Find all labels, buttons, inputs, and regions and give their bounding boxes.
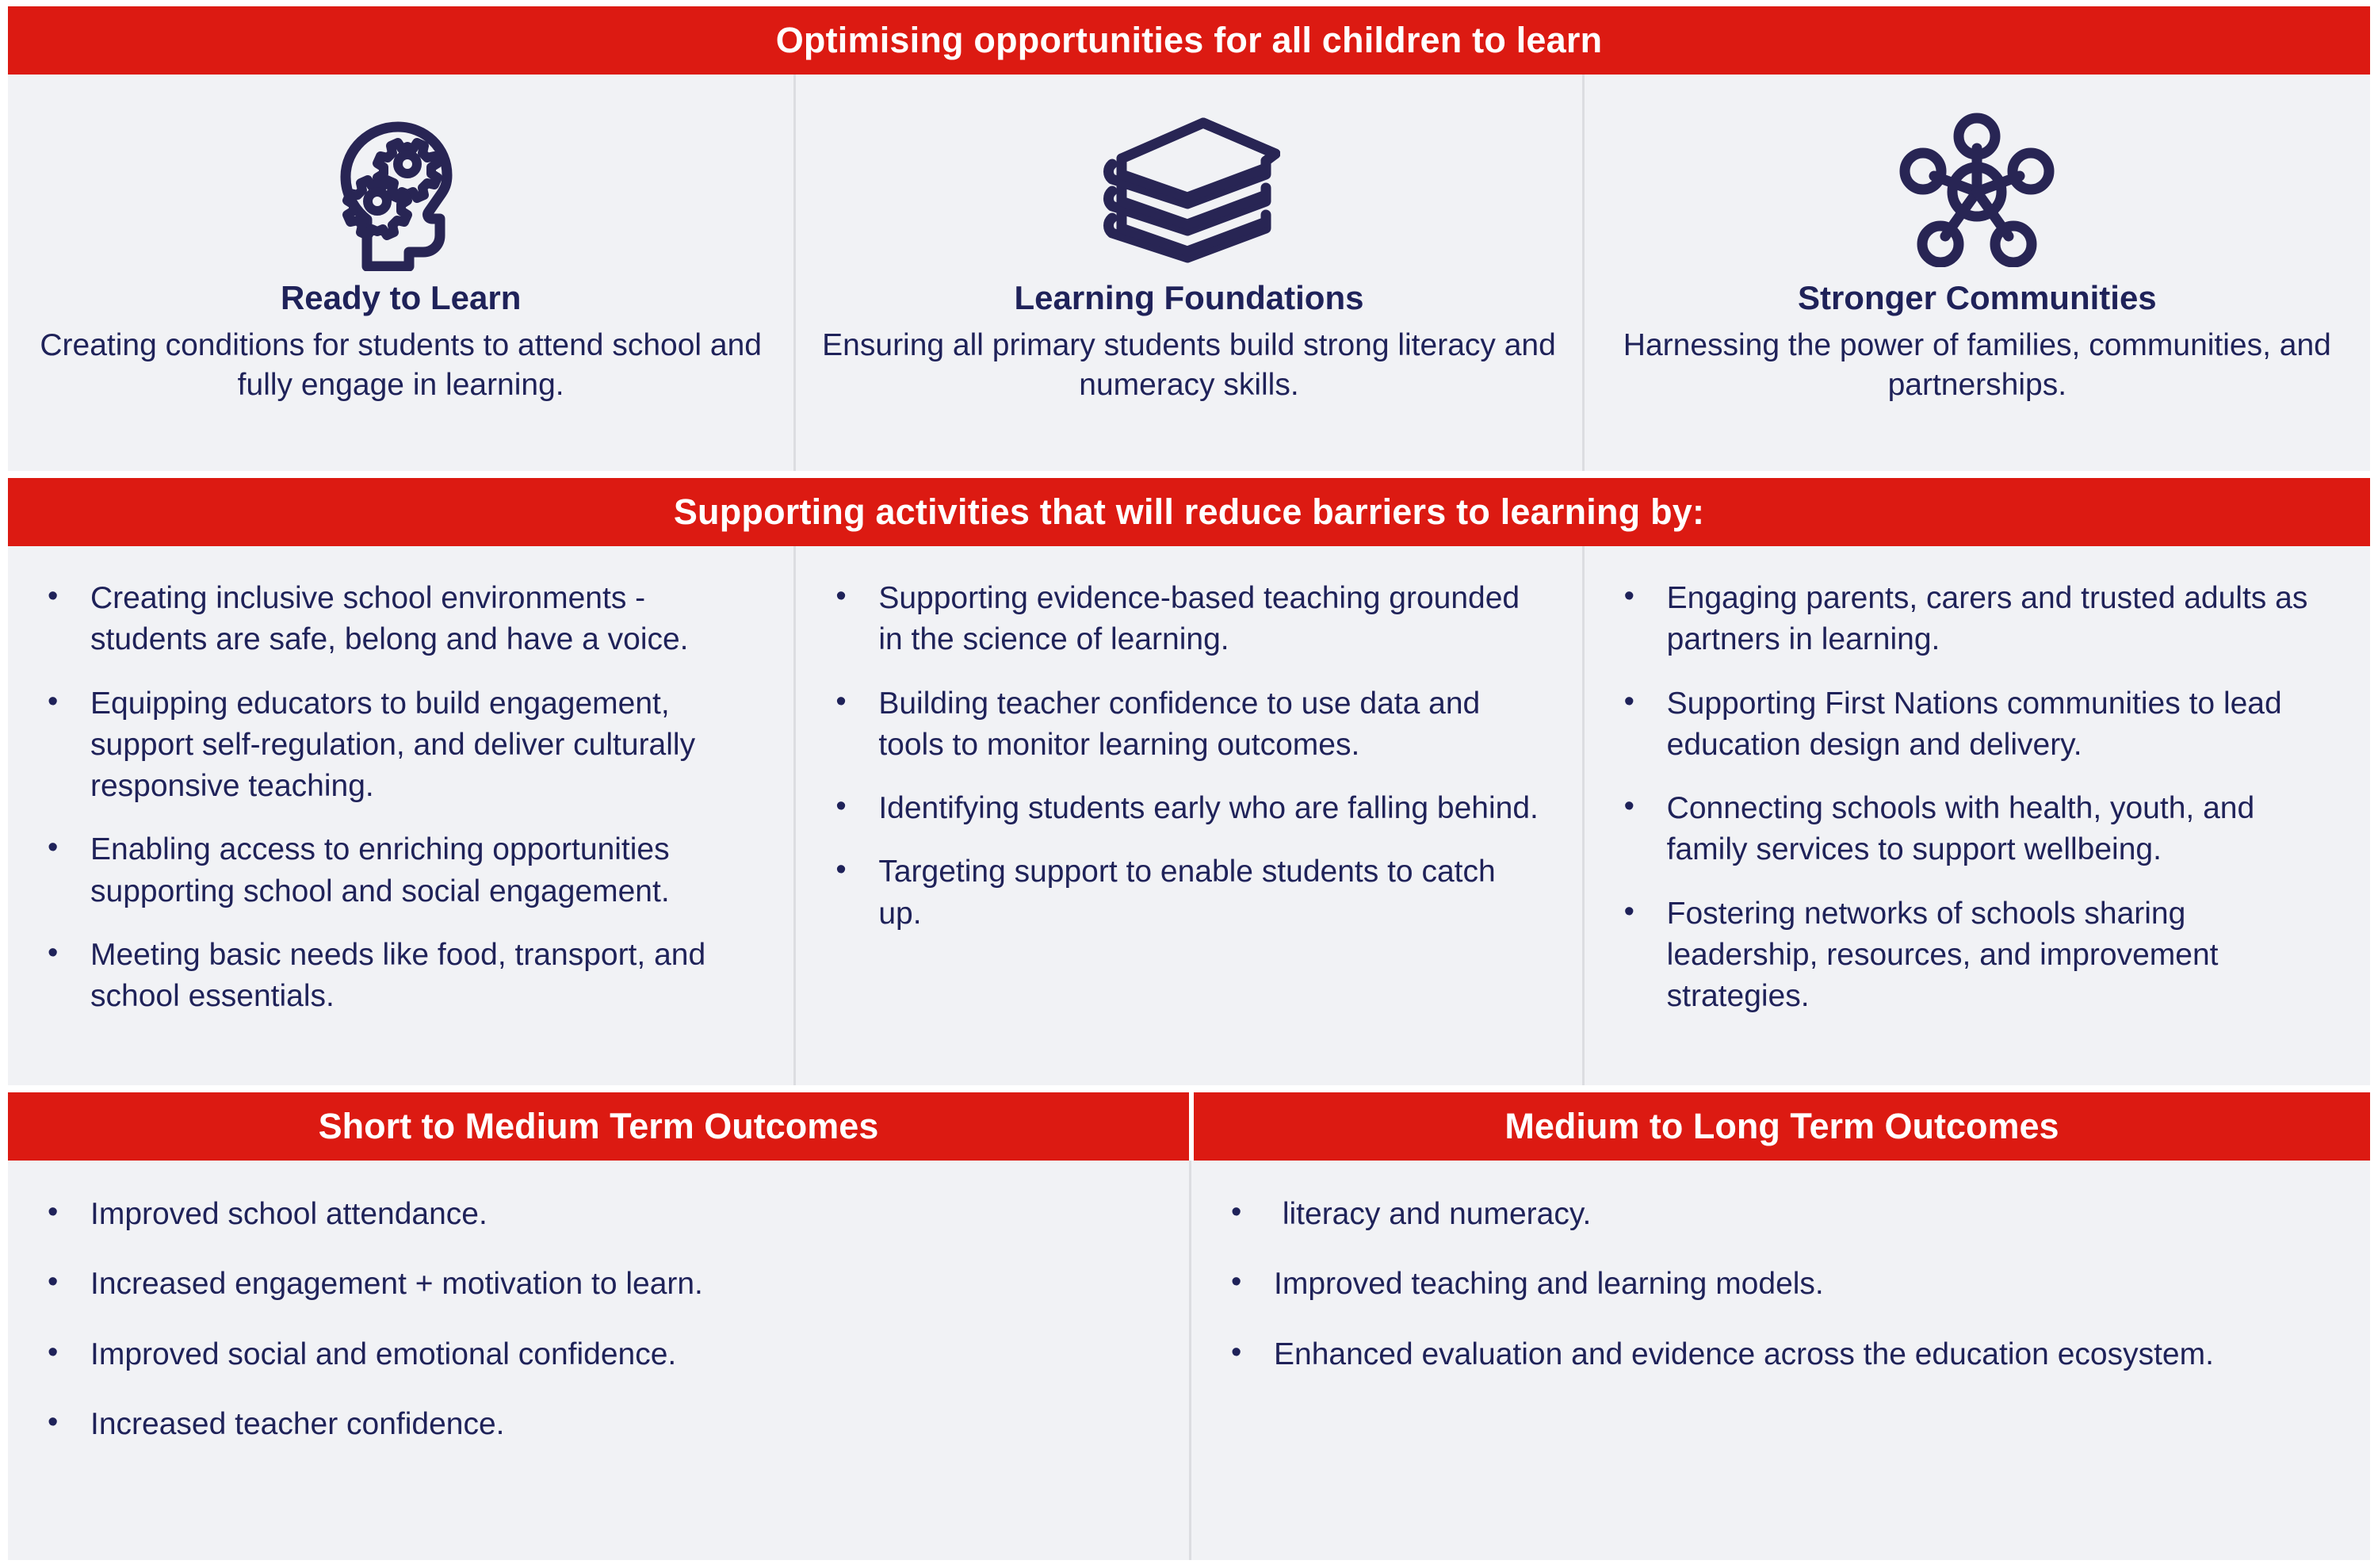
activities-column-learning-foundations: Supporting evidence-based teaching groun… bbox=[793, 546, 1581, 1085]
medium-long-term-outcomes-column: literacy and numeracy. Improved teaching… bbox=[1189, 1161, 2370, 1560]
list-item: Enhanced evaluation and evidence across … bbox=[1220, 1334, 2338, 1375]
list-item: Targeting support to enable students to … bbox=[824, 851, 1546, 935]
head-with-gears-icon bbox=[322, 105, 480, 275]
activities-banner: Supporting activities that will reduce b… bbox=[8, 478, 2370, 546]
outcomes-list: literacy and numeracy. Improved teaching… bbox=[1220, 1194, 2338, 1375]
medium-long-term-outcomes-header: Medium to Long Term Outcomes bbox=[1194, 1092, 2370, 1161]
activities-list: Engaging parents, carers and trusted adu… bbox=[1613, 578, 2335, 1017]
pillar-title: Stronger Communities bbox=[1798, 278, 2157, 318]
list-item: Engaging parents, carers and trusted adu… bbox=[1613, 578, 2335, 661]
list-item: Supporting evidence-based teaching groun… bbox=[824, 578, 1546, 661]
list-item: Enabling access to enriching opportuniti… bbox=[36, 829, 759, 912]
list-item: Increased teacher confidence. bbox=[36, 1404, 1157, 1445]
short-medium-term-outcomes-column: Improved school attendance. Increased en… bbox=[8, 1161, 1189, 1560]
activities-list: Supporting evidence-based teaching groun… bbox=[824, 578, 1546, 935]
pillar-title: Learning Foundations bbox=[1015, 278, 1364, 318]
list-item: literacy and numeracy. bbox=[1220, 1194, 2338, 1235]
short-medium-term-outcomes-header: Short to Medium Term Outcomes bbox=[8, 1092, 1189, 1161]
activities-banner-title: Supporting activities that will reduce b… bbox=[674, 491, 1704, 533]
outcomes-body-row: Improved school attendance. Increased en… bbox=[8, 1161, 2370, 1560]
activities-column-ready-to-learn: Creating inclusive school environments -… bbox=[8, 546, 793, 1085]
pillar-learning-foundations: Learning Foundations Ensuring all primar… bbox=[793, 75, 1581, 471]
pillar-description: Harnessing the power of families, commun… bbox=[1608, 326, 2346, 406]
list-item: Increased engagement + motivation to lea… bbox=[36, 1264, 1157, 1305]
list-item: Improved social and emotional confidence… bbox=[36, 1334, 1157, 1375]
activities-row: Creating inclusive school environments -… bbox=[8, 546, 2370, 1085]
pillars-row: Ready to Learn Creating conditions for s… bbox=[8, 75, 2370, 471]
infographic-page: Optimising opportunities for all childre… bbox=[0, 0, 2378, 1568]
top-banner: Optimising opportunities for all childre… bbox=[8, 6, 2370, 75]
outcome-header-label: Medium to Long Term Outcomes bbox=[1504, 1106, 2059, 1147]
list-item: Connecting schools with health, youth, a… bbox=[1613, 788, 2335, 871]
list-item: Improved school attendance. bbox=[36, 1194, 1157, 1235]
network-hub-icon bbox=[1896, 105, 2059, 275]
pillar-stronger-communities: Stronger Communities Harnessing the powe… bbox=[1582, 75, 2370, 471]
pillar-description: Ensuring all primary students build stro… bbox=[820, 326, 1558, 406]
list-item: Identifying students early who are falli… bbox=[824, 788, 1546, 829]
outcomes-list: Improved school attendance. Increased en… bbox=[36, 1194, 1157, 1445]
list-item: Improved teaching and learning models. bbox=[1220, 1264, 2338, 1305]
stack-of-books-icon bbox=[1098, 105, 1280, 275]
list-item: Supporting First Nations communities to … bbox=[1613, 683, 2335, 767]
activities-list: Creating inclusive school environments -… bbox=[36, 578, 759, 1017]
outcomes-headers-row: Short to Medium Term Outcomes Medium to … bbox=[8, 1092, 2370, 1161]
pillar-ready-to-learn: Ready to Learn Creating conditions for s… bbox=[8, 75, 793, 471]
pillar-description: Creating conditions for students to atte… bbox=[32, 326, 770, 406]
top-banner-title: Optimising opportunities for all childre… bbox=[776, 20, 1603, 61]
list-item: Equipping educators to build engagement,… bbox=[36, 683, 759, 808]
pillar-title: Ready to Learn bbox=[281, 278, 521, 318]
list-item: Building teacher confidence to use data … bbox=[824, 683, 1546, 767]
list-item: Creating inclusive school environments -… bbox=[36, 578, 759, 661]
activities-column-stronger-communities: Engaging parents, carers and trusted adu… bbox=[1582, 546, 2370, 1085]
list-item: Fostering networks of schools sharing le… bbox=[1613, 893, 2335, 1018]
list-item: Meeting basic needs like food, transport… bbox=[36, 935, 759, 1018]
outcome-header-label: Short to Medium Term Outcomes bbox=[319, 1106, 879, 1147]
